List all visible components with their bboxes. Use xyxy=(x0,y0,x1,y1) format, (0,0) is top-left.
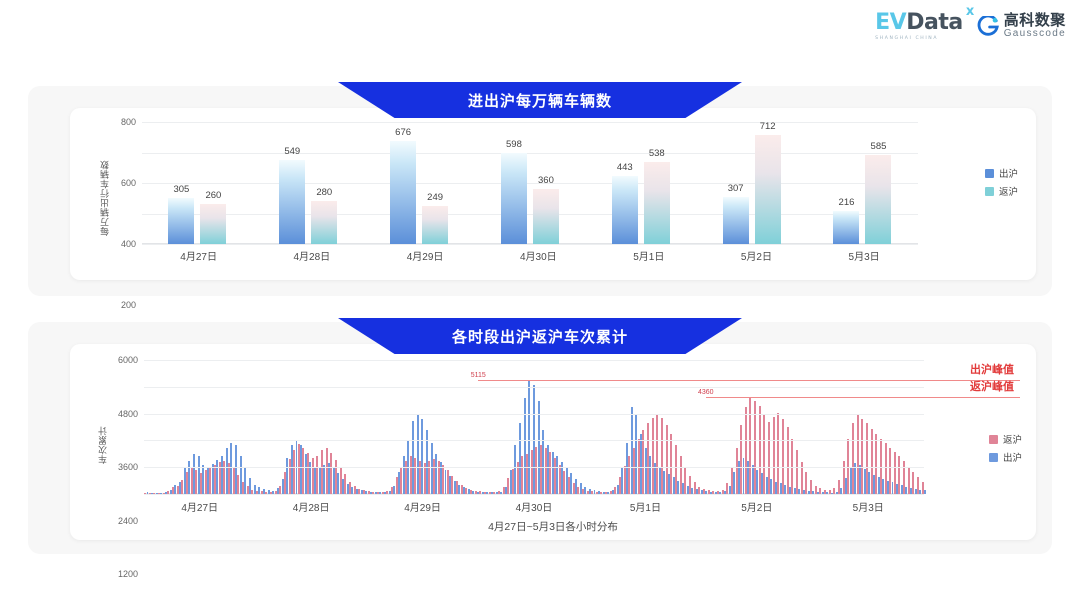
peak-value-label: 4360 xyxy=(698,389,714,396)
legend-swatch-icon xyxy=(989,453,998,462)
chart-panel-hourly: 车次累计 0120024003600480060005115出沪峰值4360返沪… xyxy=(28,322,1052,554)
screenshot-root: EVDatax SHANGHAI CHINA 高科数聚 Gausscode 每万… xyxy=(0,0,1080,608)
hourly-chart-x-label: 5月3日 xyxy=(813,499,924,514)
peak-value-label: 5115 xyxy=(471,372,486,379)
daily-chart-x-label: 4月29日 xyxy=(407,248,444,263)
hourly-chart-legend-item[interactable]: 出沪 xyxy=(989,450,1022,464)
hourly-chart-x-labels: 4月27日4月28日4月29日4月30日5月1日5月2日5月3日 xyxy=(144,499,924,514)
peak-line xyxy=(478,380,1020,381)
daily-chart-legend-item[interactable]: 返沪 xyxy=(985,184,1018,198)
daily-chart-bar-group: 676249 xyxy=(390,122,448,244)
daily-chart-bar[interactable]: 538 xyxy=(644,162,670,244)
daily-chart-bar-value: 307 xyxy=(728,183,744,194)
daily-chart-bar[interactable]: 305 xyxy=(168,198,194,245)
daily-chart-bar-group: 598360 xyxy=(501,122,559,244)
peak-title-label: 返沪峰值 xyxy=(970,378,1014,394)
hourly-chart-y-tick: 1200 xyxy=(118,569,138,579)
hourly-chart-gridline: 6000 xyxy=(144,360,924,361)
daily-chart-bar[interactable]: 712 xyxy=(755,135,781,244)
daily-chart-plot-area: 0200400600800305260549280676249598360443… xyxy=(142,122,918,244)
hourly-chart-x-label: 4月27日 xyxy=(144,499,255,514)
banner-daily-title: 进出沪每万辆车辆数 xyxy=(468,90,612,111)
gausscode-logo-en: Gausscode xyxy=(1004,29,1066,40)
daily-chart-x-label: 5月1日 xyxy=(633,248,664,263)
daily-chart-bar-value: 443 xyxy=(617,162,633,173)
daily-chart-bar[interactable]: 549 xyxy=(279,160,305,244)
daily-chart-x-label: 5月2日 xyxy=(741,248,772,263)
daily-chart-bar-value: 260 xyxy=(205,190,221,201)
daily-chart-bar[interactable]: 443 xyxy=(612,176,638,244)
hourly-bar-chart: 车次累计 0120024003600480060005115出沪峰值4360返沪… xyxy=(70,344,1036,540)
daily-chart-x-label: 5月3日 xyxy=(849,248,880,263)
hourly-chart-bar[interactable] xyxy=(777,413,779,494)
peak-line xyxy=(706,397,1020,398)
daily-chart-bar-group: 549280 xyxy=(279,122,337,244)
daily-chart-bar-group: 307712 xyxy=(723,122,781,244)
hourly-chart-x-label: 5月2日 xyxy=(701,499,812,514)
daily-chart-x-label: 4月27日 xyxy=(180,248,217,263)
legend-swatch-icon xyxy=(989,435,998,444)
daily-chart-legend-item[interactable]: 出沪 xyxy=(985,166,1018,180)
daily-chart-bar-group: 216585 xyxy=(833,122,891,244)
daily-bar-chart: 每万辆出行车辆数 0200400600800305260549280676249… xyxy=(70,108,1036,280)
gausscode-mark-icon xyxy=(977,16,999,38)
daily-chart-bar-value: 360 xyxy=(538,175,554,186)
daily-chart-bar[interactable]: 280 xyxy=(311,201,337,244)
daily-chart-bar-value: 676 xyxy=(395,127,411,138)
banner-hourly: 各时段出沪返沪车次累计 xyxy=(338,318,742,354)
evdata-logo-wordmark: EVDatax xyxy=(875,12,963,34)
daily-chart-bar[interactable]: 216 xyxy=(833,211,859,244)
legend-swatch-icon xyxy=(985,169,994,178)
evdata-logo-ev: EV xyxy=(875,10,906,35)
hourly-chart-x-label: 4月28日 xyxy=(255,499,366,514)
hourly-chart-x-axis-caption: 4月27日~5月3日各小时分布 xyxy=(70,519,1036,534)
hourly-chart-bar[interactable] xyxy=(796,450,798,494)
daily-chart-bar-value: 249 xyxy=(427,192,443,203)
daily-chart-legend: 出沪返沪 xyxy=(985,166,1018,198)
hourly-chart-x-label: 4月29日 xyxy=(367,499,478,514)
daily-chart-bar-value: 538 xyxy=(649,148,665,159)
hourly-chart-gridline: 3600 xyxy=(144,414,924,415)
daily-chart-y-tick: 800 xyxy=(121,117,136,127)
header-logos: EVDatax SHANGHAI CHINA 高科数聚 Gausscode xyxy=(875,12,1066,41)
gausscode-logo: 高科数聚 Gausscode xyxy=(977,13,1066,39)
daily-chart-gridline: 0 xyxy=(142,244,918,245)
daily-chart-bar-value: 598 xyxy=(506,139,522,150)
gausscode-logo-text: 高科数聚 Gausscode xyxy=(1004,13,1066,39)
evdata-logo-subtitle: SHANGHAI CHINA xyxy=(875,36,938,41)
hourly-chart-gridline: 1200 xyxy=(144,467,924,468)
daily-chart-bar-value: 216 xyxy=(839,197,855,208)
banner-daily: 进出沪每万辆车辆数 xyxy=(338,82,742,118)
hourly-chart-y-axis-title: 车次累计 xyxy=(96,384,109,464)
chart-card-daily: 每万辆出行车辆数 0200400600800305260549280676249… xyxy=(70,108,1036,280)
daily-chart-legend-label: 出沪 xyxy=(999,166,1018,180)
daily-chart-y-axis-title: 每万辆出行车辆数 xyxy=(98,126,111,236)
daily-chart-bar[interactable]: 360 xyxy=(533,189,559,244)
banner-hourly-title: 各时段出沪返沪车次累计 xyxy=(452,326,628,347)
hourly-chart-legend-label: 返沪 xyxy=(1003,432,1022,446)
daily-chart-x-label: 4月28日 xyxy=(294,248,331,263)
hourly-chart-y-tick: 6000 xyxy=(118,355,138,365)
daily-chart-bar[interactable]: 598 xyxy=(501,153,527,244)
daily-chart-bar[interactable]: 585 xyxy=(865,155,891,244)
daily-chart-legend-label: 返沪 xyxy=(999,184,1018,198)
hourly-chart-x-label: 4月30日 xyxy=(478,499,589,514)
daily-chart-bar-value: 305 xyxy=(173,184,189,195)
peak-title-label: 出沪峰值 xyxy=(970,361,1014,377)
hourly-chart-gridline: 2400 xyxy=(144,440,924,441)
hourly-chart-bar[interactable] xyxy=(787,427,789,494)
daily-chart-y-tick: 200 xyxy=(121,300,136,310)
daily-chart-bar-group: 443538 xyxy=(612,122,670,244)
hourly-chart-legend: 返沪出沪 xyxy=(989,432,1022,464)
hourly-chart-plot-area: 0120024003600480060005115出沪峰值4360返沪峰值 xyxy=(144,360,924,494)
hourly-chart-legend-label: 出沪 xyxy=(1003,450,1022,464)
daily-chart-bar[interactable]: 307 xyxy=(723,197,749,244)
daily-chart-bar-value: 585 xyxy=(871,141,887,152)
daily-chart-bar[interactable]: 676 xyxy=(390,141,416,244)
hourly-chart-bar[interactable] xyxy=(782,419,784,494)
daily-chart-bar-value: 712 xyxy=(760,121,776,132)
hourly-chart-y-tick: 4800 xyxy=(118,409,138,419)
daily-chart-x-label: 4月30日 xyxy=(520,248,557,263)
gausscode-logo-cn: 高科数聚 xyxy=(1004,13,1066,29)
hourly-chart-x-label: 5月1日 xyxy=(590,499,701,514)
hourly-chart-bar[interactable] xyxy=(924,490,926,494)
hourly-chart-gridline: 0 xyxy=(144,494,924,495)
evdata-logo-superscript-icon: x xyxy=(966,5,974,18)
daily-chart-bar[interactable]: 260 xyxy=(200,204,226,244)
daily-chart-y-tick: 400 xyxy=(121,239,136,249)
daily-chart-bar-groups: 3052605492806762495983604435383077122165… xyxy=(142,122,918,244)
daily-chart-x-labels: 4月27日4月28日4月29日4月30日5月1日5月2日5月3日 xyxy=(142,248,918,263)
daily-chart-bar-group: 305260 xyxy=(168,122,226,244)
evdata-logo-data: Data xyxy=(906,10,962,35)
hourly-chart-legend-item[interactable]: 返沪 xyxy=(989,432,1022,446)
daily-chart-y-tick: 600 xyxy=(121,178,136,188)
hourly-chart-gridline: 4800 xyxy=(144,387,924,388)
daily-chart-bar[interactable]: 249 xyxy=(422,206,448,244)
daily-chart-bar-value: 549 xyxy=(284,146,300,157)
hourly-chart-y-tick: 3600 xyxy=(118,462,138,472)
daily-chart-bar-value: 280 xyxy=(316,187,332,198)
legend-swatch-icon xyxy=(985,187,994,196)
chart-card-hourly: 车次累计 0120024003600480060005115出沪峰值4360返沪… xyxy=(70,344,1036,540)
evdata-logo: EVDatax SHANGHAI CHINA xyxy=(875,12,963,41)
